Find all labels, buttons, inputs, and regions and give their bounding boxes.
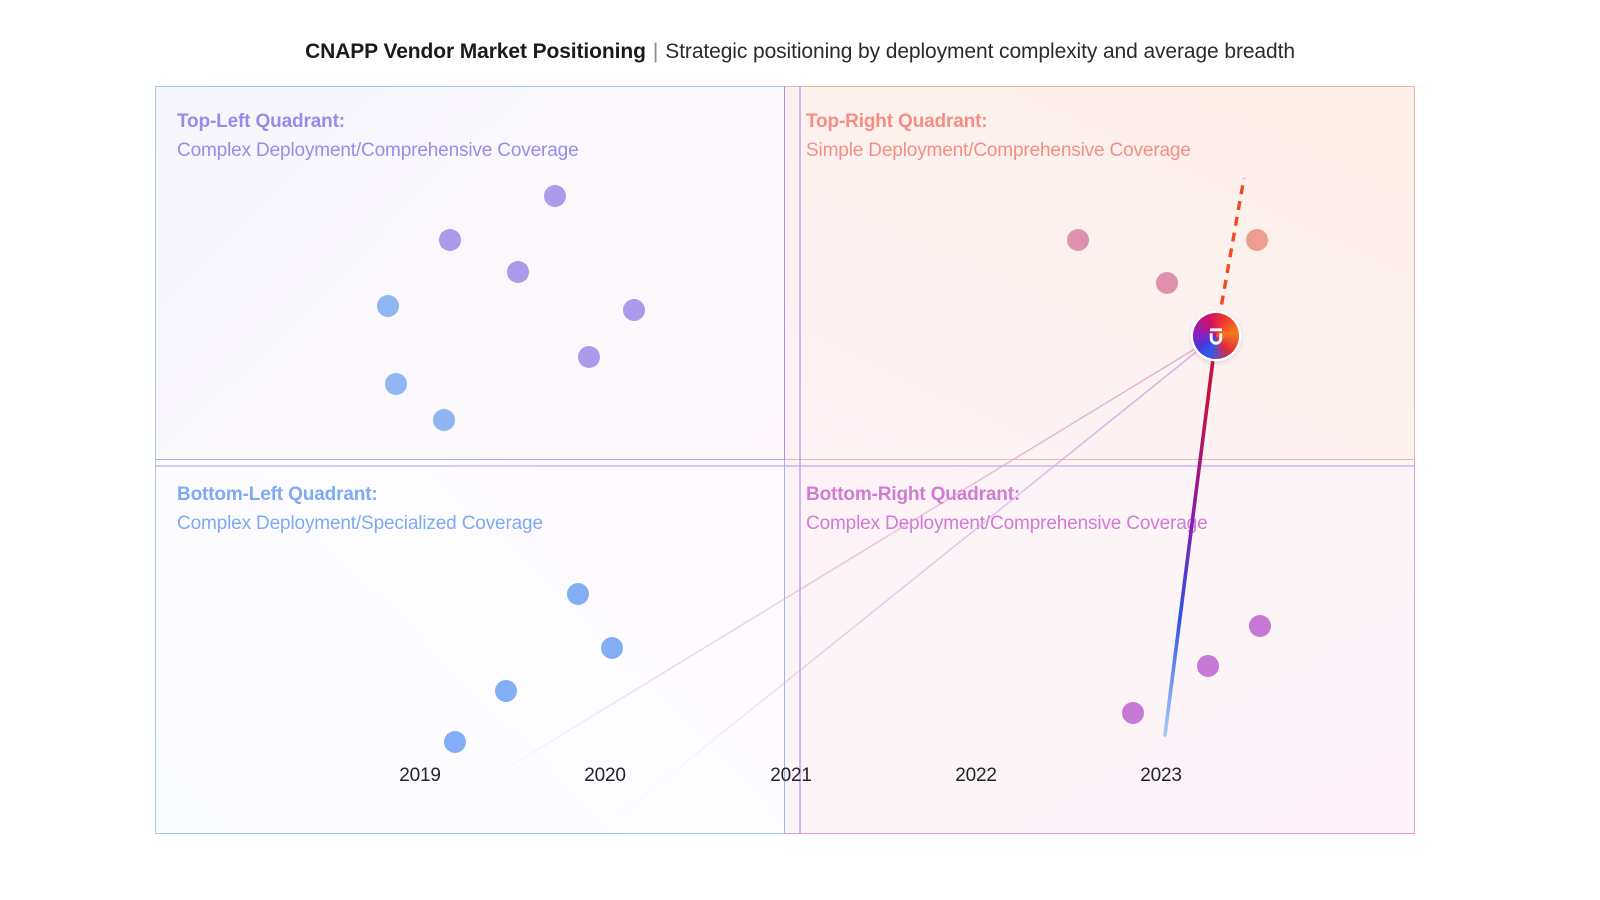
quadrant-top-right-title: Top-Right Quadrant: — [806, 108, 1191, 137]
scatter-dot[interactable] — [433, 409, 455, 431]
scatter-dot[interactable] — [623, 299, 645, 321]
quadrant-bottom-right-label: Bottom-Right Quadrant: Complex Deploymen… — [806, 481, 1208, 539]
x-axis-tick-2020: 2020 — [584, 765, 625, 787]
quadrant-top-left-description: Complex Deployment/Comprehensive Coverag… — [177, 137, 579, 166]
chart-canvas: CNAPP Vendor Market Positioning|Strategi… — [0, 0, 1600, 900]
quadrant-bottom-right-description: Complex Deployment/Comprehensive Coverag… — [806, 510, 1208, 539]
upwind-u-glyph — [1203, 323, 1229, 349]
quadrant-bottom-left[interactable]: Bottom-Left Quadrant: Complex Deployment… — [155, 460, 785, 834]
scatter-dot[interactable] — [377, 295, 399, 317]
page-title: CNAPP Vendor Market Positioning|Strategi… — [0, 40, 1600, 64]
scatter-dot[interactable] — [439, 229, 461, 251]
quadrant-top-right[interactable]: Top-Right Quadrant: Simple Deployment/Co… — [785, 86, 1415, 460]
scatter-dot[interactable] — [507, 261, 529, 283]
x-axis-tick-2023: 2023 — [1140, 765, 1181, 787]
title-subtitle: Strategic positioning by deployment comp… — [665, 40, 1295, 63]
x-axis-tick-2019: 2019 — [399, 765, 440, 787]
x-axis-tick-2021: 2021 — [770, 765, 811, 787]
scatter-dot[interactable] — [1156, 272, 1178, 294]
scatter-dot[interactable] — [1122, 702, 1144, 724]
title-separator: | — [646, 40, 665, 63]
quadrant-top-left-label: Top-Left Quadrant: Complex Deployment/Co… — [177, 108, 579, 166]
x-axis-tick-2022: 2022 — [955, 765, 996, 787]
upwind-logo-badge[interactable] — [1193, 313, 1239, 359]
quadrant-top-left[interactable]: Top-Left Quadrant: Complex Deployment/Co… — [155, 86, 785, 460]
quadrant-top-left-title: Top-Left Quadrant: — [177, 108, 579, 137]
quadrant-bottom-right[interactable]: Bottom-Right Quadrant: Complex Deploymen… — [785, 460, 1415, 834]
quadrant-bottom-left-title: Bottom-Left Quadrant: — [177, 481, 543, 510]
title-main: CNAPP Vendor Market Positioning — [305, 40, 646, 63]
quadrant-matrix: Top-Left Quadrant: Complex Deployment/Co… — [155, 86, 1415, 834]
scatter-dot[interactable] — [495, 680, 517, 702]
scatter-dot[interactable] — [578, 346, 600, 368]
scatter-dot[interactable] — [1249, 615, 1271, 637]
quadrant-bottom-right-title: Bottom-Right Quadrant: — [806, 481, 1208, 510]
scatter-dot[interactable] — [544, 185, 566, 207]
scatter-dot[interactable] — [567, 583, 589, 605]
quadrant-bottom-left-description: Complex Deployment/Specialized Coverage — [177, 510, 543, 539]
scatter-dot[interactable] — [1197, 655, 1219, 677]
quadrant-top-right-label: Top-Right Quadrant: Simple Deployment/Co… — [806, 108, 1191, 166]
quadrant-top-right-description: Simple Deployment/Comprehensive Coverage — [806, 137, 1191, 166]
scatter-dot[interactable] — [1067, 229, 1089, 251]
scatter-dot[interactable] — [1246, 229, 1268, 251]
scatter-dot[interactable] — [601, 637, 623, 659]
scatter-dot[interactable] — [444, 731, 466, 753]
quadrant-bottom-left-label: Bottom-Left Quadrant: Complex Deployment… — [177, 481, 543, 539]
scatter-dot[interactable] — [385, 373, 407, 395]
